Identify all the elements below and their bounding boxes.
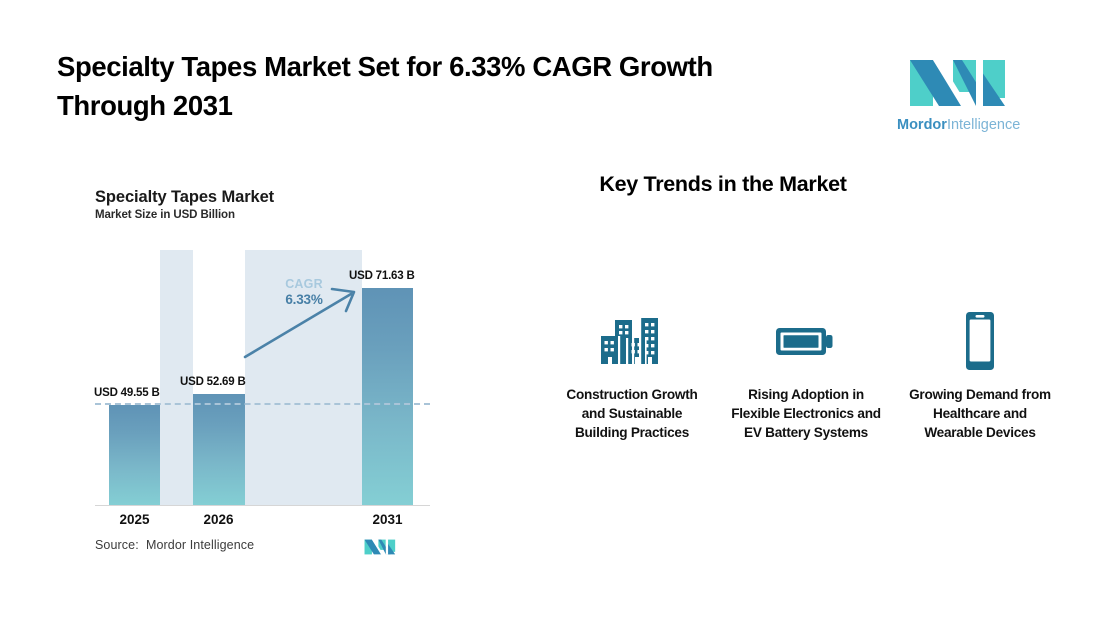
trend-item-construction: Construction Growth and Sustainable Buil…: [556, 300, 708, 442]
bar-2026: [193, 394, 245, 506]
chart-source: Source: Mordor Intelligence: [95, 538, 430, 560]
chart-panel: Specialty Tapes Market Market Size in US…: [0, 0, 470, 622]
mordor-m-logo-icon: [906, 52, 1010, 114]
brand-wordmark-bold: Mordor: [897, 117, 947, 133]
brand-logo: MordorIntelligence: [897, 52, 1019, 133]
bar-label-2031: USD 71.63 B: [349, 270, 415, 282]
growth-arrow-icon: [240, 283, 365, 363]
trend-caption: Construction Growth and Sustainable Buil…: [556, 386, 708, 442]
x-tick-2026: 2026: [188, 512, 249, 527]
trend-icon-wrap: [959, 300, 1001, 382]
smartphone-icon: [959, 310, 1001, 372]
bar-2031: [362, 288, 413, 506]
chart-subtitle: Market Size in USD Billion: [95, 209, 235, 221]
trend-item-electronics: Rising Adoption in Flexible Electronics …: [730, 300, 882, 442]
source-name: Mordor Intelligence: [146, 538, 254, 552]
chart-title: Specialty Tapes Market: [95, 188, 274, 207]
bar-label-2026: USD 52.69 B: [180, 376, 246, 388]
buildings-icon: [600, 312, 664, 370]
trend-caption: Growing Demand from Healthcare and Weara…: [904, 386, 1056, 442]
battery-icon: [774, 319, 838, 363]
trend-caption: Rising Adoption in Flexible Electronics …: [730, 386, 882, 442]
trend-icon-wrap: [600, 300, 664, 382]
x-tick-2025: 2025: [104, 512, 165, 527]
brand-wordmark: MordorIntelligence: [897, 117, 1019, 133]
x-axis-line: [95, 505, 430, 506]
source-label: Source:: [95, 538, 139, 552]
mordor-m-logo-icon: [363, 537, 397, 557]
trend-grid: Construction Growth and Sustainable Buil…: [556, 300, 1056, 442]
brand-wordmark-light: Intelligence: [947, 117, 1020, 133]
reference-dashed-line: [95, 403, 430, 405]
trend-icon-wrap: [774, 300, 838, 382]
trend-item-healthcare: Growing Demand from Healthcare and Weara…: [904, 300, 1056, 442]
bar-2025: [109, 405, 160, 506]
bar-label-2025: USD 49.55 B: [94, 387, 160, 399]
source-text: Source: Mordor Intelligence: [95, 538, 254, 552]
trends-title: Key Trends in the Market: [567, 172, 879, 197]
x-tick-2031: 2031: [357, 512, 418, 527]
